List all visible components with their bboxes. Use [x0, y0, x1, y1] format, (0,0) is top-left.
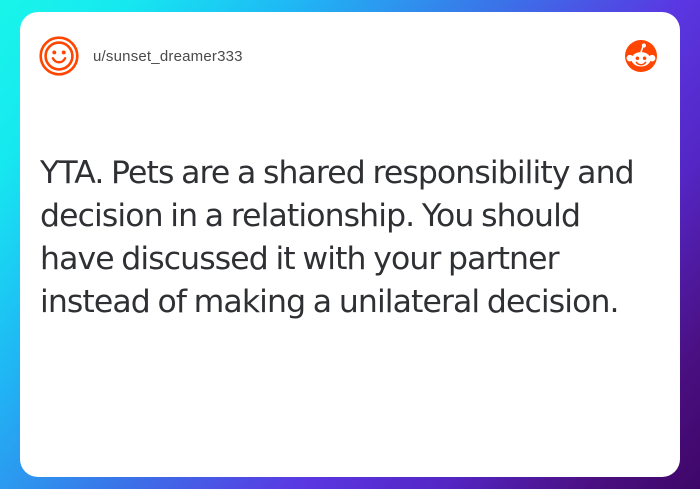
post-body-text: YTA. Pets are a shared responsibility an… — [40, 152, 656, 324]
username-label: u/sunset_dreamer333 — [93, 48, 243, 65]
card-body: YTA. Pets are a shared responsibility an… — [40, 152, 656, 324]
reddit-comment-card: u/sunset_dreamer333 — [20, 12, 680, 477]
screenshot-canvas: u/sunset_dreamer333 — [0, 0, 700, 489]
reddit-snoo-logo-icon — [624, 39, 658, 73]
card-header: u/sunset_dreamer333 — [20, 12, 680, 100]
smiley-face-avatar-icon — [38, 35, 80, 77]
